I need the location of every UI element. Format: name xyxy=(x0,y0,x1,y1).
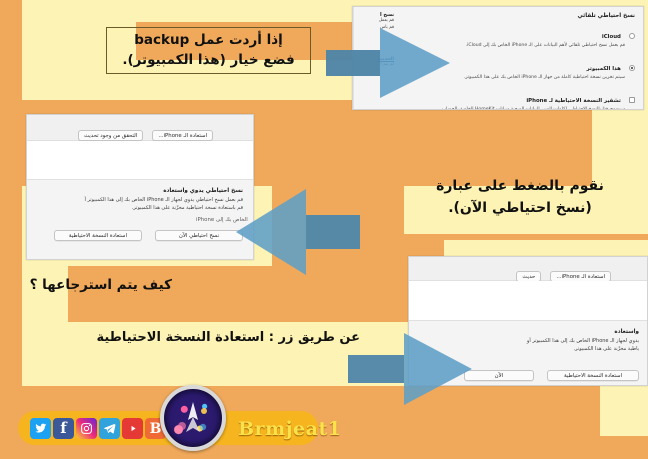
callout-this-computer: إذا أردت عمل backup فضع خيار (هذا الكمبي… xyxy=(106,27,311,74)
button-backup-now-right[interactable]: الآن xyxy=(464,370,534,381)
callout-question: كيف يتم استرجاعها ؟ xyxy=(12,277,172,293)
callout-question-line1: كيف يتم استرجاعها ؟ xyxy=(12,277,172,293)
button-check-update-top[interactable]: التحقق من وجود تحديث xyxy=(78,130,143,141)
button-restore-iphone-top[interactable]: استعادة الـ iPhone... xyxy=(152,130,213,141)
option-encrypt-desc: سيسمح هذا بالنسخ الاحتياطي لكلمات السر، … xyxy=(405,107,625,110)
callout-answer: عن طريق زر : استعادة النسخة الاحتياطية xyxy=(80,330,360,345)
button-restore-backup-left[interactable]: استعادة النسخة الاحتياطية xyxy=(54,230,142,241)
manual-section-body2-left: قم باستعادة نسخة احتياطية مخزّنة على هذا… xyxy=(33,205,243,213)
bg-band-far-right-low xyxy=(600,386,648,436)
radio-icloud[interactable] xyxy=(629,33,635,39)
panel-left-clipped-text: الخاص بك إلى iPhone xyxy=(26,219,87,225)
manual-section-body1-left: قم بعمل نسخ احتياطي يدوي لجهاز الـ iPhon… xyxy=(33,197,243,205)
arrow-right-bottom xyxy=(348,330,474,408)
option-this-computer-label: هذا الكمبيوتر xyxy=(587,66,621,72)
social-icon-row: f B xyxy=(30,418,166,439)
panel-left-white-area xyxy=(27,141,253,180)
panel-right-top-strip: استعادة الـ iPhone... حديث xyxy=(409,257,647,281)
checkbox-encrypt-backup[interactable] xyxy=(629,97,635,103)
telegram-icon[interactable] xyxy=(99,418,120,439)
instagram-icon[interactable] xyxy=(76,418,97,439)
option-icloud-label: iCloud xyxy=(602,34,621,40)
callout-backup-now-line2: (نسخ احتياطي الآن). xyxy=(404,198,636,220)
arrow-left-middle xyxy=(234,183,360,281)
button-restore-backup-right[interactable]: استعادة النسخة الاحتياطية xyxy=(547,370,639,381)
logo-glyph-icon xyxy=(164,389,222,447)
facebook-icon[interactable]: f xyxy=(53,418,74,439)
option-encrypt-label: تشفير النسخة الاحتياطية لـ iPhone xyxy=(526,98,621,104)
panel-left-top-strip: استعادة الـ iPhone... التحقق من وجود تحد… xyxy=(27,115,253,141)
channel-logo xyxy=(160,385,226,451)
brand-name: Brmjeat1 xyxy=(238,418,341,440)
button-backup-now-left[interactable]: نسخ احتياطي الآن xyxy=(155,230,243,241)
auto-backup-section-title: نسخ احتياطي تلقائي xyxy=(405,13,635,19)
twitter-icon[interactable] xyxy=(30,418,51,439)
slide-canvas: نسخ ا قم بعمل قم باس الحديث لم يتم ا نسخ… xyxy=(0,0,648,459)
callout-backup-now: نقوم بالضغط على عبارة (نسخ احتياطي الآن)… xyxy=(404,176,636,219)
youtube-icon[interactable] xyxy=(122,418,143,439)
arrow-right-top xyxy=(326,24,452,102)
callout-answer-line1: عن طريق زر : استعادة النسخة الاحتياطية xyxy=(80,330,360,345)
callout-this-computer-line2: فضع خيار (هذا الكمبيوتر). xyxy=(115,51,302,71)
callout-this-computer-line1: إذا أردت عمل backup xyxy=(115,31,302,51)
callout-backup-now-line1: نقوم بالضغط على عبارة xyxy=(404,176,636,198)
panel-right-white-area xyxy=(409,281,647,321)
manual-section-title-left: نسخ احتياطي يدوي واستعادة xyxy=(33,188,243,194)
panel-manual-backup-left: استعادة الـ iPhone... التحقق من وجود تحد… xyxy=(26,114,254,260)
radio-this-computer[interactable] xyxy=(629,65,635,71)
